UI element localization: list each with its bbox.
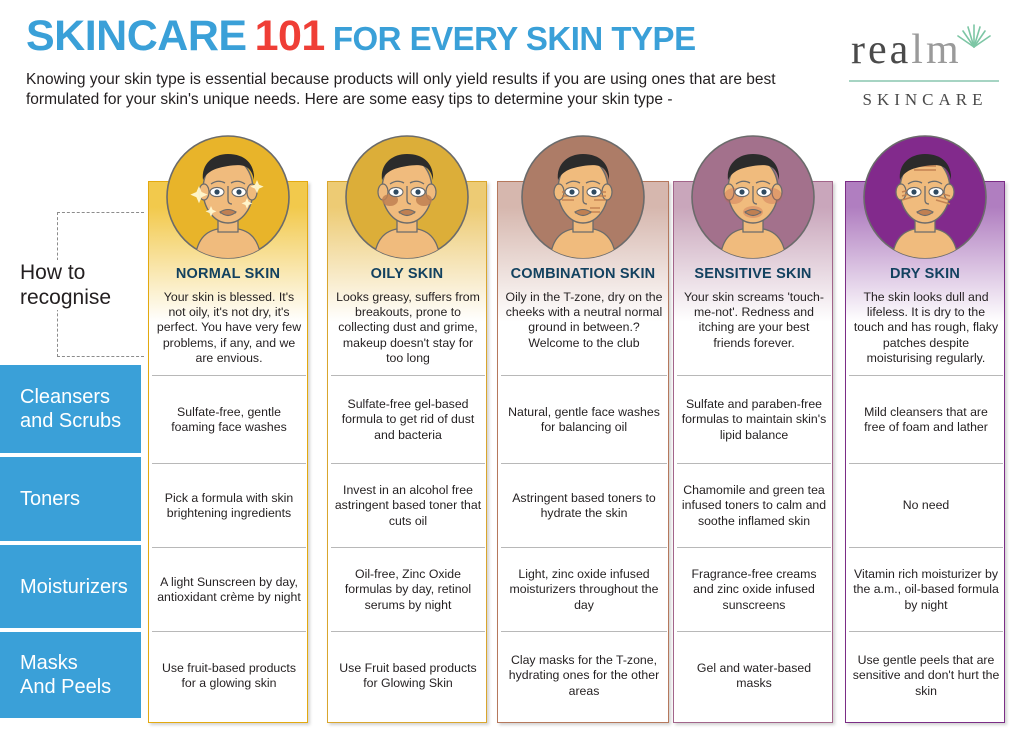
logo-divider [849,80,999,82]
skin-type-card[interactable]: NORMAL SKIN Your skin is blessed. It's n… [148,181,308,723]
page-header: SKINCARE101FOR EVERY SKIN TYPE Knowing y… [0,0,1023,125]
skin-type-card[interactable]: OILY SKIN Looks greasy, suffers from bre… [327,181,487,723]
cell-cleansers: Natural, gentle face washes for balancin… [504,378,664,462]
cell-cleansers: Sulfate and paraben-free formulas to mai… [680,378,828,462]
skin-type-title: SENSITIVE SKIN [674,266,832,282]
row-divider [849,547,1003,548]
cell-cleansers: Sulfate-free, gentle foaming face washes [155,378,303,462]
row-divider [677,631,831,632]
skin-type-description: The skin looks dull and lifeless. It is … [852,290,1000,366]
row-divider [501,547,667,548]
row-divider [331,375,485,376]
row-label-line2: and Scrubs [20,409,121,433]
skin-type-column: NORMAL SKIN Your skin is blessed. It's n… [148,181,308,726]
skin-type-description: Oily in the T-zone, dry on the cheeks wi… [504,290,664,351]
logo-wordmark: realm [851,28,962,72]
logo-word-light: lm [911,27,961,73]
skin-type-column: SENSITIVE SKIN Your skin screams 'touch-… [673,181,833,726]
row-label-line1: How to [20,260,111,285]
row-label-how-to-recognise: How to recognise [0,212,141,357]
cell-moisturizers: Vitamin rich moisturizer by the a.m., oi… [852,550,1000,630]
skin-type-title: DRY SKIN [846,266,1004,282]
cell-moisturizers: Fragrance-free creams and zinc oxide inf… [680,550,828,630]
card-header: DRY SKIN The skin looks dull and lifeles… [846,182,1004,378]
skin-type-title: OILY SKIN [328,266,486,282]
cell-masks: Use gentle peels that are sensitive and … [852,634,1000,718]
row-divider [331,631,485,632]
row-label-line2: recognise [20,285,111,310]
cell-masks: Use fruit-based products for a glowing s… [155,634,303,718]
logo-subtitle: SKINCARE [849,90,1001,110]
cell-toners: Pick a formula with skin brightening ing… [155,466,303,546]
row-divider [152,375,306,376]
brand-logo: realm SKINCARE [843,18,1003,114]
title-skincare: SKINCARE [26,14,247,59]
row-divider [501,375,667,376]
row-divider [501,463,667,464]
page-title: SKINCARE101FOR EVERY SKIN TYPE [26,14,696,61]
skin-type-title: COMBINATION SKIN [498,266,668,282]
row-label-line1: Moisturizers [20,575,128,599]
cell-masks: Use Fruit based products for Glowing Ski… [334,634,482,718]
cell-toners: Astringent based toners to hydrate the s… [504,466,664,546]
face-illustration-dry-skin [862,134,988,260]
row-label-line1: Toners [20,487,80,511]
logo-word-dark: rea [851,27,911,73]
card-header: OILY SKIN Looks greasy, suffers from bre… [328,182,486,378]
cell-masks: Clay masks for the T-zone, hydrating one… [504,634,664,718]
row-label-text: How to recognise [0,260,115,310]
skin-type-description: Your skin screams 'touch-me-not'. Rednes… [680,290,828,351]
row-label-moisturizers: Moisturizers [0,545,141,628]
skin-type-card[interactable]: COMBINATION SKIN Oily in the T-zone, dry… [497,181,669,723]
row-divider [849,631,1003,632]
skin-type-column: DRY SKIN The skin looks dull and lifeles… [845,181,1005,726]
row-divider [152,463,306,464]
title-101: 101 [255,14,325,59]
cell-cleansers: Sulfate-free gel-based formula to get ri… [334,378,482,462]
intro-paragraph: Knowing your skin type is essential beca… [26,70,816,110]
row-divider [849,463,1003,464]
skin-type-column: COMBINATION SKIN Oily in the T-zone, dry… [497,181,669,726]
cell-moisturizers: Oil-free, Zinc Oxide formulas by day, re… [334,550,482,630]
cell-toners: No need [852,466,1000,546]
skin-type-card[interactable]: SENSITIVE SKIN Your skin screams 'touch-… [673,181,833,723]
card-header: COMBINATION SKIN Oily in the T-zone, dry… [498,182,668,378]
skin-type-column: OILY SKIN Looks greasy, suffers from bre… [327,181,487,726]
skin-type-card[interactable]: DRY SKIN The skin looks dull and lifeles… [845,181,1005,723]
face-illustration-combination-skin [520,134,646,260]
cell-moisturizers: Light, zinc oxide infused moisturizers t… [504,550,664,630]
row-divider [331,463,485,464]
row-divider [152,631,306,632]
row-label-line1: Masks [20,651,111,675]
cell-toners: Invest in an alcohol free astringent bas… [334,466,482,546]
face-illustration-oily-skin [344,134,470,260]
skin-type-description: Your skin is blessed. It's not oily, it'… [155,290,303,366]
row-label-rail: How to recognise Cleansers and Scrubs To… [0,180,141,734]
row-divider [677,547,831,548]
row-label-masks: Masks And Peels [0,632,141,718]
cell-cleansers: Mild cleansers that are free of foam and… [852,378,1000,462]
row-label-line2: And Peels [20,675,111,699]
face-illustration-normal-skin [165,134,291,260]
row-label-cleansers: Cleansers and Scrubs [0,365,141,453]
row-divider [849,375,1003,376]
card-header: NORMAL SKIN Your skin is blessed. It's n… [149,182,307,378]
row-divider [677,375,831,376]
row-label-toners: Toners [0,457,141,541]
row-label-line1: Cleansers [20,385,121,409]
cell-masks: Gel and water-based masks [680,634,828,718]
cell-moisturizers: A light Sunscreen by day, antioxidant cr… [155,550,303,630]
row-divider [501,631,667,632]
row-divider [152,547,306,548]
title-subtitle: FOR EVERY SKIN TYPE [333,16,696,61]
skin-type-title: NORMAL SKIN [149,266,307,282]
card-header: SENSITIVE SKIN Your skin screams 'touch-… [674,182,832,378]
skin-type-description: Looks greasy, suffers from breakouts, pr… [334,290,482,366]
face-illustration-sensitive-skin [690,134,816,260]
row-divider [677,463,831,464]
cell-toners: Chamomile and green tea infused toners t… [680,466,828,546]
row-divider [331,547,485,548]
